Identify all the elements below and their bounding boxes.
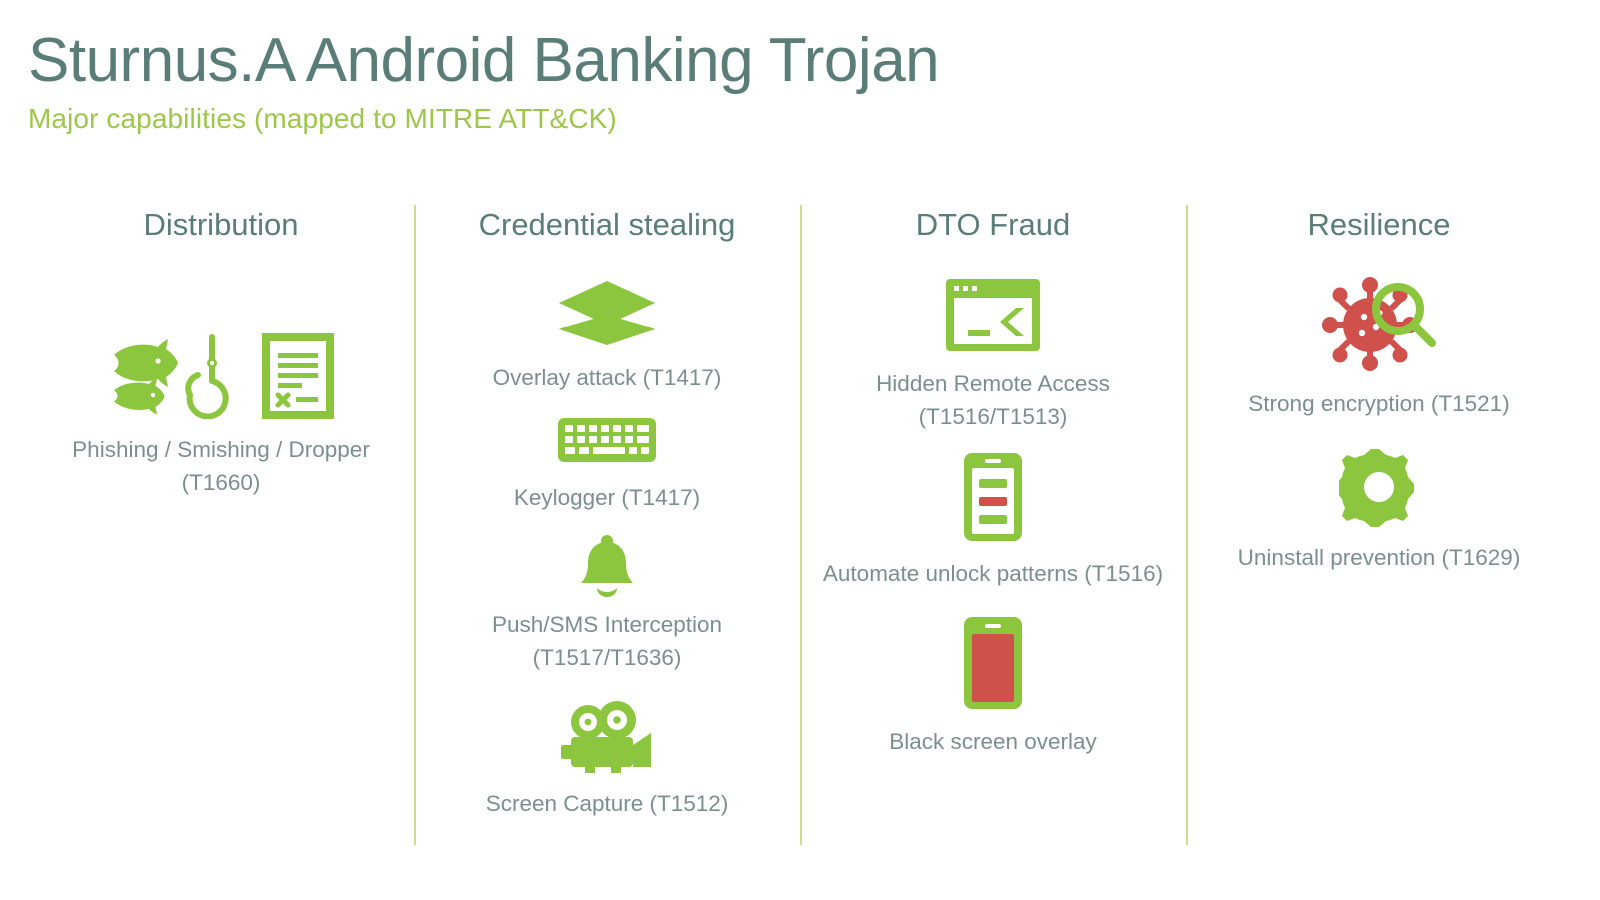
capability-caption: Screen Capture (T1512) — [486, 788, 729, 821]
capability-item: Hidden Remote Access (T1516/T1513) — [810, 277, 1176, 433]
column-items-distribution: Phishing / Smishing / Dropper (T1660) — [38, 315, 404, 499]
icon-group — [1339, 447, 1419, 532]
column-items-dto-fraud: Hidden Remote Access (T1516/T1513) — [810, 259, 1176, 759]
capability-columns: Distribution — [28, 205, 1572, 845]
capability-caption: Keylogger (T1417) — [514, 482, 700, 515]
capability-item: Black screen overlay — [810, 615, 1176, 759]
column-header-dto-fraud: DTO Fraud — [916, 207, 1070, 243]
capability-caption: Phishing / Smishing / Dropper (T1660) — [71, 434, 371, 499]
gear-icon — [1339, 447, 1419, 532]
capability-item: Keylogger (T1417) — [424, 413, 790, 515]
capability-item: Phishing / Smishing / Dropper (T1660) — [38, 333, 404, 499]
phone-unlock-icon — [962, 451, 1024, 548]
capability-caption: Push/SMS Interception (T1517/T1636) — [457, 609, 757, 674]
column-distribution: Distribution — [28, 205, 414, 845]
icon-group — [573, 532, 641, 605]
capability-caption: Strong encryption (T1521) — [1248, 388, 1509, 421]
icon-group — [944, 277, 1042, 358]
icon-group — [555, 281, 659, 352]
column-items-resilience: Strong encryption (T1521) — [1196, 257, 1562, 574]
capability-item: Push/SMS Interception (T1517/T1636) — [424, 532, 790, 674]
capability-caption: Uninstall prevention (T1629) — [1238, 542, 1521, 575]
terminal-window-icon — [944, 277, 1042, 358]
icon-group — [962, 451, 1024, 548]
column-resilience: Resilience — [1186, 205, 1572, 845]
capability-item: Strong encryption (T1521) — [1196, 275, 1562, 421]
capability-item: Uninstall prevention (T1629) — [1196, 447, 1562, 575]
capability-item: Automate unlock patterns (T1516) — [810, 451, 1176, 591]
capability-caption: Overlay attack (T1417) — [493, 362, 722, 395]
phone-red-screen-icon — [962, 615, 1024, 716]
icon-group — [1318, 275, 1440, 378]
column-header-distribution: Distribution — [143, 207, 298, 243]
column-header-credential-stealing: Credential stealing — [479, 207, 736, 243]
column-header-resilience: Resilience — [1307, 207, 1450, 243]
capability-caption: Hidden Remote Access (T1516/T1513) — [810, 368, 1176, 433]
virus-magnifier-icon — [1318, 275, 1440, 378]
layers-icon — [555, 281, 659, 352]
page-subtitle: Major capabilities (mapped to MITRE ATT&… — [28, 103, 1568, 135]
page-title: Sturnus.A Android Banking Trojan — [28, 28, 1568, 93]
capability-caption: Automate unlock patterns (T1516) — [823, 558, 1163, 591]
icon-group — [557, 413, 657, 472]
document-icon — [262, 333, 334, 424]
icon-group — [555, 701, 659, 778]
capability-caption: Black screen overlay — [889, 726, 1097, 759]
capability-item: Screen Capture (T1512) — [424, 701, 790, 821]
icon-group — [108, 333, 334, 424]
capability-item: Overlay attack (T1417) — [424, 281, 790, 395]
icon-group — [962, 615, 1024, 716]
column-credential-stealing: Credential stealing — [414, 205, 800, 845]
header: Sturnus.A Android Banking Trojan Major c… — [28, 28, 1568, 135]
infographic-poster: Sturnus.A Android Banking Trojan Major c… — [0, 0, 1600, 900]
column-items-credential-stealing: Overlay attack (T1417) — [424, 263, 790, 820]
video-camera-icon — [555, 701, 659, 778]
bell-icon — [573, 532, 641, 605]
fish-hook-icon — [108, 333, 236, 424]
column-dto-fraud: DTO Fraud — [800, 205, 1186, 845]
keyboard-icon — [557, 413, 657, 472]
